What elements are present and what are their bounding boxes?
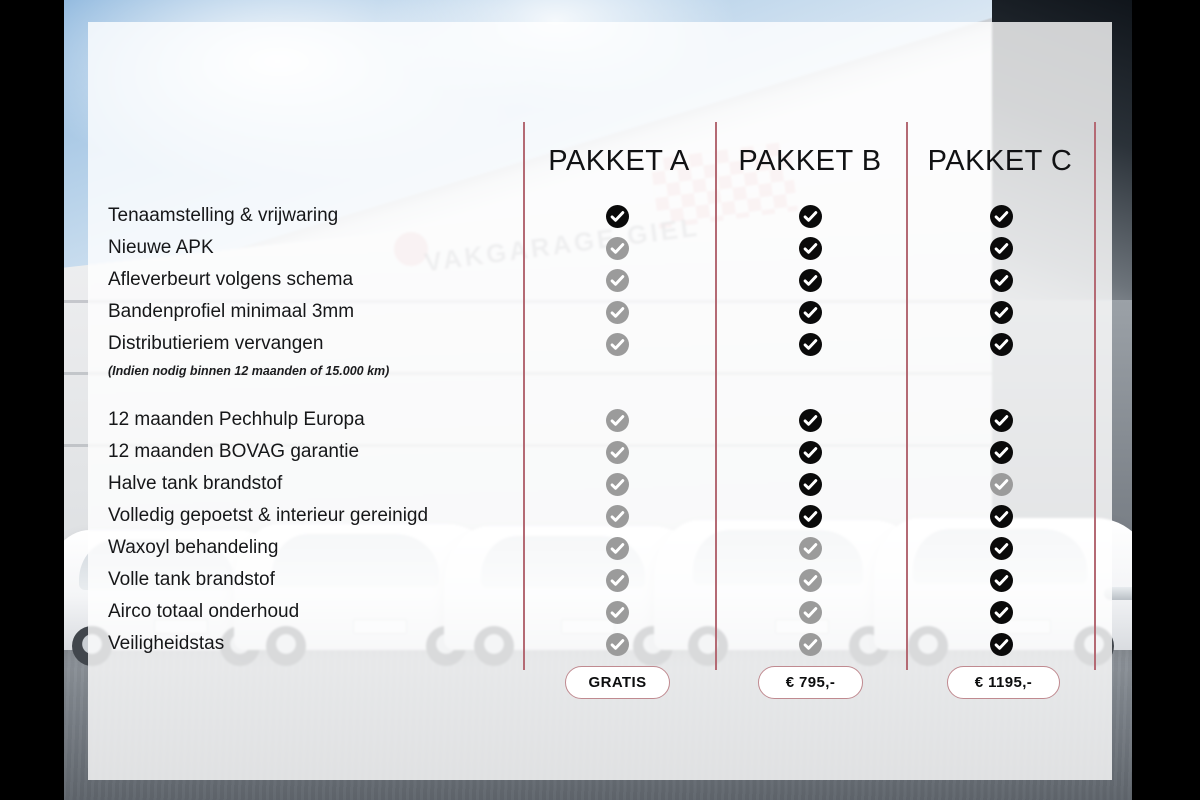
check-cell-b [780,264,840,296]
check-excluded-icon [606,537,629,560]
feature-label: Waxoyl behandeling [108,532,508,564]
check-cell-c [971,564,1031,596]
check-cell-b [780,436,840,468]
check-excluded-icon [606,301,629,324]
feature-label: Nieuwe APK [108,232,508,264]
check-cell-b [780,500,840,532]
check-column-pakket-c [971,200,1031,660]
check-cell-c [971,296,1031,328]
check-cell-b [780,596,840,628]
check-included-icon [799,301,822,324]
column-header-pakket-b: PAKKET B [717,140,903,182]
price-pill-pakket-a[interactable]: GRATIS [565,666,670,699]
check-cell-c [971,404,1031,436]
check-cell-b [780,232,840,264]
group-spacer [780,382,840,404]
check-cell-b [780,564,840,596]
check-included-icon [990,441,1013,464]
check-excluded-icon [799,633,822,656]
check-included-icon [990,205,1013,228]
note-spacer [971,360,1031,382]
feature-label: Volledig gepoetst & interieur gereinigd [108,500,508,532]
note-spacer [780,360,840,382]
check-cell-b [780,628,840,660]
check-excluded-icon [606,505,629,528]
group-spacer [587,382,647,404]
check-cell-c [971,264,1031,296]
check-cell-b [780,404,840,436]
check-cell-a [587,200,647,232]
check-column-pakket-b [780,200,840,660]
check-included-icon [799,237,822,260]
check-cell-b [780,296,840,328]
check-cell-b [780,328,840,360]
check-cell-a [587,468,647,500]
check-cell-a [587,404,647,436]
check-cell-c [971,436,1031,468]
feature-label: Bandenprofiel minimaal 3mm [108,296,508,328]
check-cell-a [587,596,647,628]
check-cell-a [587,564,647,596]
check-column-pakket-a [587,200,647,660]
check-excluded-icon [606,237,629,260]
check-included-icon [990,537,1013,560]
check-excluded-icon [606,633,629,656]
check-excluded-icon [799,569,822,592]
check-cell-b [780,532,840,564]
check-excluded-icon [606,473,629,496]
feature-label-column: Tenaamstelling & vrijwaring Nieuwe APK A… [108,200,508,660]
check-included-icon [799,441,822,464]
check-cell-a [587,628,647,660]
check-excluded-icon [606,601,629,624]
feature-label: Airco totaal onderhoud [108,596,508,628]
feature-note: (Indien nodig binnen 12 maanden of 15.00… [108,360,508,382]
check-cell-b [780,200,840,232]
check-included-icon [990,269,1013,292]
check-cell-a [587,296,647,328]
check-cell-a [587,500,647,532]
feature-label: Afleverbeurt volgens schema [108,264,508,296]
check-cell-c [971,532,1031,564]
check-cell-c [971,500,1031,532]
column-divider [1094,122,1096,670]
check-cell-a [587,532,647,564]
comparison-card: PAKKET A PAKKET B PAKKET C Tenaamstellin… [88,22,1112,780]
check-cell-a [587,328,647,360]
feature-label: Veiligheidstas [108,628,508,660]
check-included-icon [990,409,1013,432]
check-cell-c [971,628,1031,660]
check-excluded-icon [606,269,629,292]
check-cell-a [587,264,647,296]
check-excluded-icon [799,601,822,624]
check-included-icon [799,269,822,292]
column-header-pakket-c: PAKKET C [908,140,1092,182]
note-spacer [587,360,647,382]
check-included-icon [799,333,822,356]
check-cell-c [971,232,1031,264]
price-pill-pakket-c[interactable]: € 1195,- [947,666,1060,699]
price-pill-pakket-b[interactable]: € 795,- [758,666,863,699]
group-spacer [108,382,508,404]
screenshot-stage: VAKGARAGE GIEL [0,0,1200,800]
check-cell-c [971,468,1031,500]
check-cell-c [971,200,1031,232]
group-spacer [971,382,1031,404]
check-included-icon [990,633,1013,656]
check-cell-c [971,596,1031,628]
check-cell-a [587,436,647,468]
check-cell-c [971,328,1031,360]
column-header-pakket-a: PAKKET A [525,140,713,182]
column-divider [523,122,525,670]
check-included-icon [799,473,822,496]
check-excluded-icon [990,473,1013,496]
check-excluded-icon [606,569,629,592]
check-excluded-icon [606,333,629,356]
check-included-icon [990,237,1013,260]
check-excluded-icon [606,441,629,464]
check-included-icon [606,205,629,228]
column-divider [906,122,908,670]
check-included-icon [990,301,1013,324]
check-included-icon [990,333,1013,356]
check-cell-b [780,468,840,500]
feature-label: 12 maanden Pechhulp Europa [108,404,508,436]
feature-label: Volle tank brandstof [108,564,508,596]
check-included-icon [799,205,822,228]
check-included-icon [990,569,1013,592]
check-included-icon [990,505,1013,528]
check-included-icon [990,601,1013,624]
check-excluded-icon [606,409,629,432]
feature-label: 12 maanden BOVAG garantie [108,436,508,468]
feature-label: Distributieriem vervangen [108,328,508,360]
check-included-icon [799,409,822,432]
feature-label: Tenaamstelling & vrijwaring [108,200,508,232]
feature-label: Halve tank brandstof [108,468,508,500]
column-divider [715,122,717,670]
check-included-icon [799,505,822,528]
check-excluded-icon [799,537,822,560]
check-cell-a [587,232,647,264]
